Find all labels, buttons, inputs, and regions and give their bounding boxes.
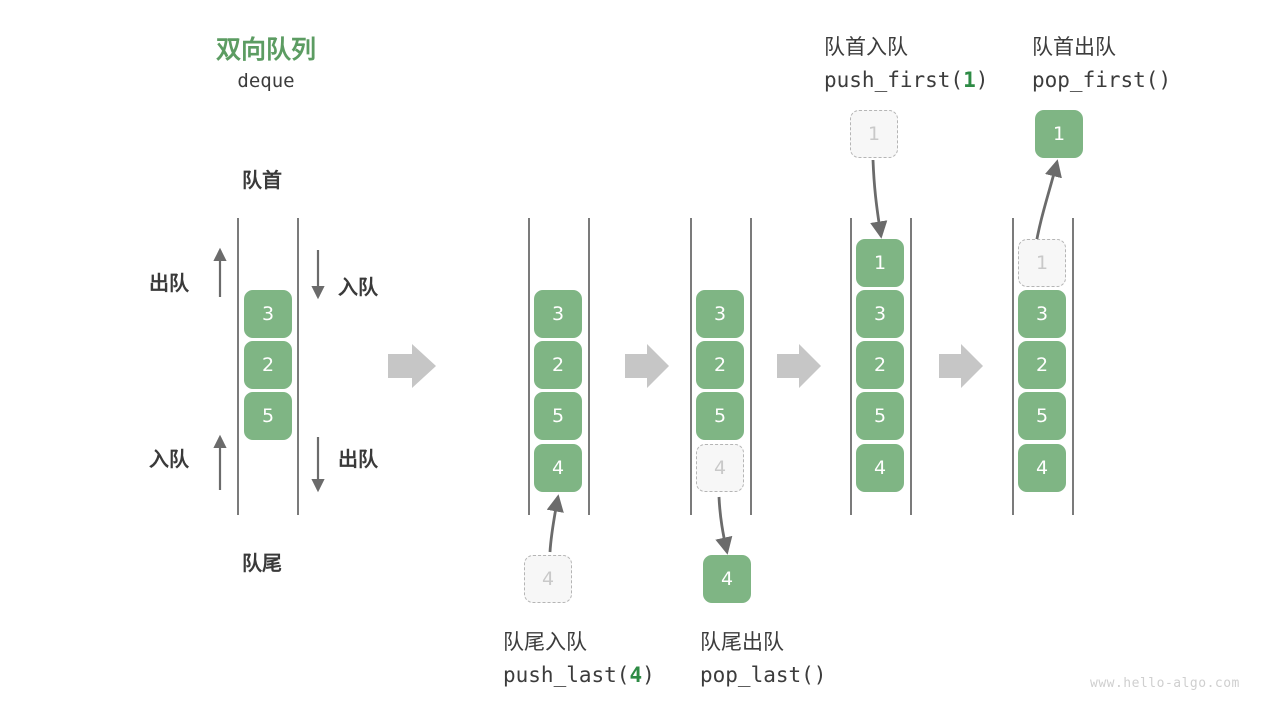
deque-cell: 3 (856, 290, 904, 338)
deque-cell: 4 (856, 444, 904, 492)
deque-cell: 3 (1018, 290, 1066, 338)
step-arrow-4 (939, 344, 983, 388)
deque-cell: 5 (534, 392, 582, 440)
arrow-push-first (873, 160, 881, 236)
external-cell-pop-first: 1 (1035, 110, 1083, 158)
deque-cell: 2 (856, 341, 904, 389)
deque-cell: 4 (696, 444, 744, 492)
deque-cell: 3 (696, 290, 744, 338)
step-arrow-1 (388, 344, 436, 388)
deque-cell: 5 (1018, 392, 1066, 440)
arrow-pop-last (719, 497, 727, 552)
deque-cell: 2 (534, 341, 582, 389)
deque-cell: 5 (244, 392, 292, 440)
arrow-pop-first (1035, 162, 1057, 250)
deque-cell: 4 (534, 444, 582, 492)
external-cell-pop-last: 4 (703, 555, 751, 603)
arrow-push-last (550, 497, 558, 552)
deque-cell: 1 (856, 239, 904, 287)
step-arrow-2 (625, 344, 669, 388)
deque-cell: 2 (244, 341, 292, 389)
diagram-vector-layer (0, 0, 1280, 720)
deque-cell: 5 (856, 392, 904, 440)
deque-cell: 3 (244, 290, 292, 338)
external-cell-push-last: 4 (524, 555, 572, 603)
deque-cell: 2 (1018, 341, 1066, 389)
deque-cell: 2 (696, 341, 744, 389)
step-arrow-3 (777, 344, 821, 388)
diagram-canvas: 双向队列 deque 队首 队尾 出队 入队 入队 出队 队首入队 push_f… (0, 0, 1280, 720)
watermark: www.hello-algo.com (1090, 676, 1240, 691)
deque-cell: 4 (1018, 444, 1066, 492)
external-cell-push-first: 1 (850, 110, 898, 158)
deque-cell: 3 (534, 290, 582, 338)
deque-cell: 5 (696, 392, 744, 440)
deque-cell: 1 (1018, 239, 1066, 287)
